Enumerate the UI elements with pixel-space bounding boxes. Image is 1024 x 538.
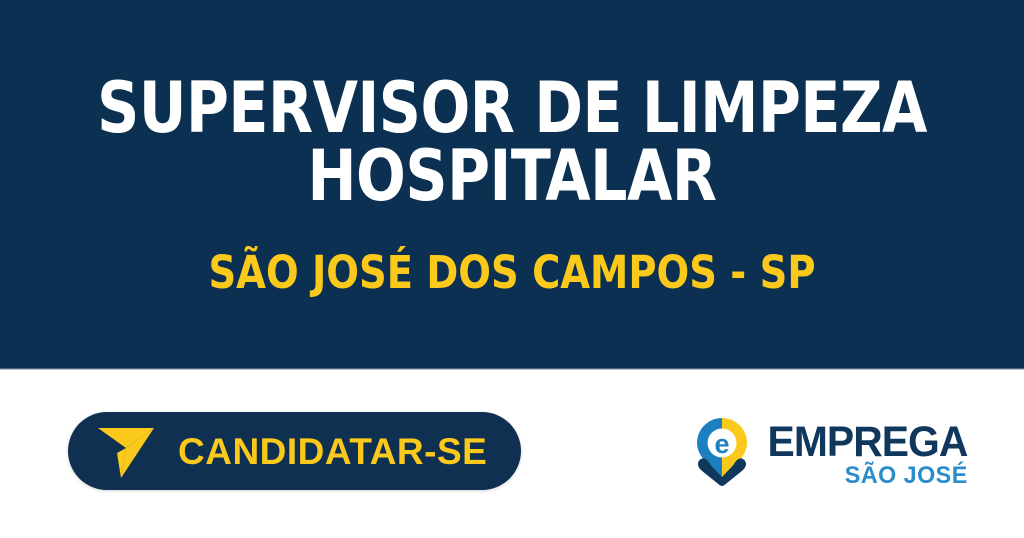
brand-city: São José	[845, 464, 968, 488]
send-icon	[96, 422, 156, 480]
job-posting-card: Supervisor de Limpeza Hospitalar São Jos…	[0, 0, 1024, 538]
map-pin-e-icon: e	[693, 416, 751, 486]
brand-name: Emprega	[768, 422, 968, 462]
apply-button[interactable]: Candidatar-se	[68, 412, 521, 490]
hero-content: Supervisor de Limpeza Hospitalar São Jos…	[0, 74, 1024, 296]
svg-text:e: e	[714, 429, 729, 459]
apply-button-label: Candidatar-se	[178, 433, 487, 470]
page-title: Supervisor de Limpeza Hospitalar	[73, 74, 951, 210]
hero-banner: Supervisor de Limpeza Hospitalar São Jos…	[0, 0, 1024, 369]
job-location: São José dos Campos - SP	[64, 250, 961, 296]
brand-wordmark: Emprega São José	[757, 416, 967, 488]
brand-logo[interactable]: e Emprega São José	[693, 416, 923, 490]
